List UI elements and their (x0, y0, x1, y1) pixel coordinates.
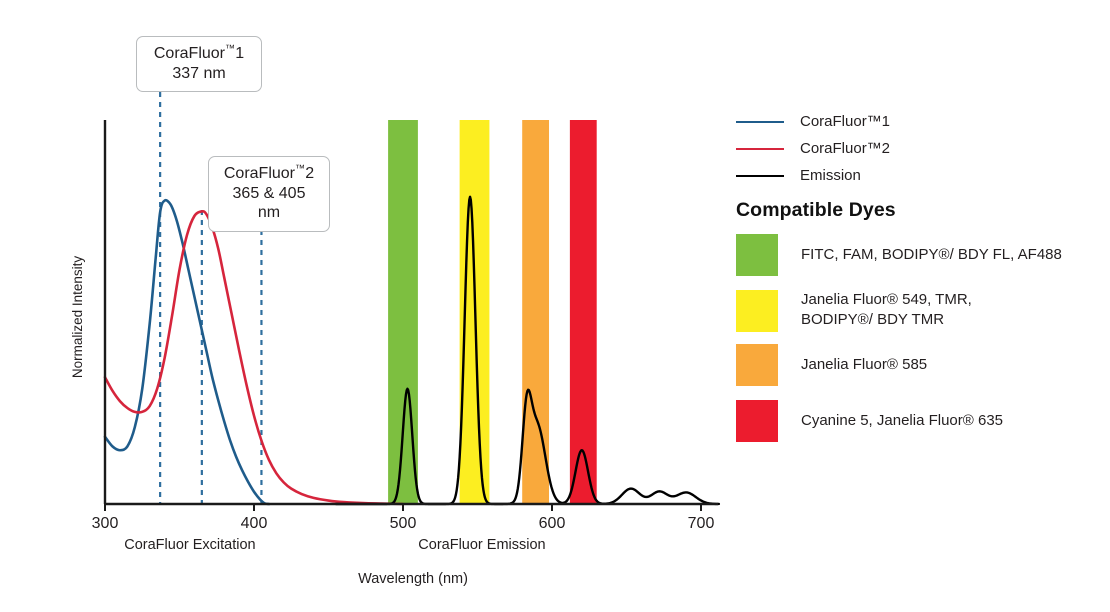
dye-label: Janelia Fluor® 549, TMR,BODIPY®/ BDY TMR (801, 290, 972, 330)
range-label-1: CoraFluor Emission (418, 537, 545, 553)
legend-label: CoraFluor™1 (800, 113, 890, 130)
dye-color-swatch (736, 344, 778, 386)
x-axis-title: Wavelength (nm) (358, 571, 468, 587)
callout-corafluor2: CoraFluor™2 365 & 405 nm (208, 156, 330, 232)
dye-item-1: Janelia Fluor® 549, TMR,BODIPY®/ BDY TMR (736, 290, 1108, 332)
series-legend: CoraFluor™1CoraFluor™2Emission (733, 108, 1103, 189)
fluorescence-spectra-figure: 300400500600700CoraFluor ExcitationCoraF… (0, 0, 1110, 612)
x-tick-label-300: 300 (92, 515, 119, 532)
x-tick-label-600: 600 (539, 515, 566, 532)
dye-color-swatch (736, 234, 778, 276)
dye-label: FITC, FAM, BODIPY®/ BDY FL, AF488 (801, 234, 1062, 265)
legend-line-swatch (736, 175, 784, 177)
dye-color-swatch (736, 290, 778, 332)
legend-item-1: CoraFluor™2 (733, 135, 1103, 162)
dye-label: Cyanine 5, Janelia Fluor® 635 (801, 400, 1003, 431)
dye-item-0: FITC, FAM, BODIPY®/ BDY FL, AF488 (736, 234, 1108, 276)
legend-line-swatch (736, 148, 784, 150)
dye-item-3: Cyanine 5, Janelia Fluor® 635 (736, 400, 1108, 442)
dye-item-2: Janelia Fluor® 585 (736, 344, 1108, 386)
dye-label: Janelia Fluor® 585 (801, 344, 927, 375)
callout-1-line2: 365 & 405 nm (223, 184, 315, 223)
legend-label: CoraFluor™2 (800, 140, 890, 157)
legend-line-swatch (736, 121, 784, 123)
callout-corafluor1: CoraFluor™1 337 nm (136, 36, 262, 92)
curve-corafluor2 (105, 211, 403, 504)
plot-area: 300400500600700CoraFluor ExcitationCoraF… (0, 0, 730, 612)
x-tick-label-700: 700 (688, 515, 715, 532)
callout-0-line1: CoraFluor™1 (154, 45, 244, 62)
orange-band (522, 120, 549, 504)
x-tick-label-500: 500 (390, 515, 417, 532)
callout-1-line1: CoraFluor™2 (224, 165, 314, 182)
compatible-dyes-list: FITC, FAM, BODIPY®/ BDY FL, AF488Janelia… (736, 234, 1108, 456)
legend-item-0: CoraFluor™1 (733, 108, 1103, 135)
spectra-plot: 300400500600700CoraFluor ExcitationCoraF… (0, 0, 730, 612)
legend-label: Emission (800, 167, 861, 184)
legend-panel: CoraFluor™1CoraFluor™2Emission Compatibl… (728, 0, 1110, 612)
curve-corafluor1 (105, 200, 269, 504)
compatible-dyes-heading: Compatible Dyes (736, 199, 896, 222)
red-band (570, 120, 597, 504)
legend-item-2: Emission (733, 162, 1103, 189)
dye-color-swatch (736, 400, 778, 442)
callout-0-line2: 337 nm (151, 64, 247, 84)
x-tick-label-400: 400 (241, 515, 268, 532)
y-axis-title: Normalized Intensity (70, 256, 85, 379)
range-label-0: CoraFluor Excitation (124, 537, 255, 553)
